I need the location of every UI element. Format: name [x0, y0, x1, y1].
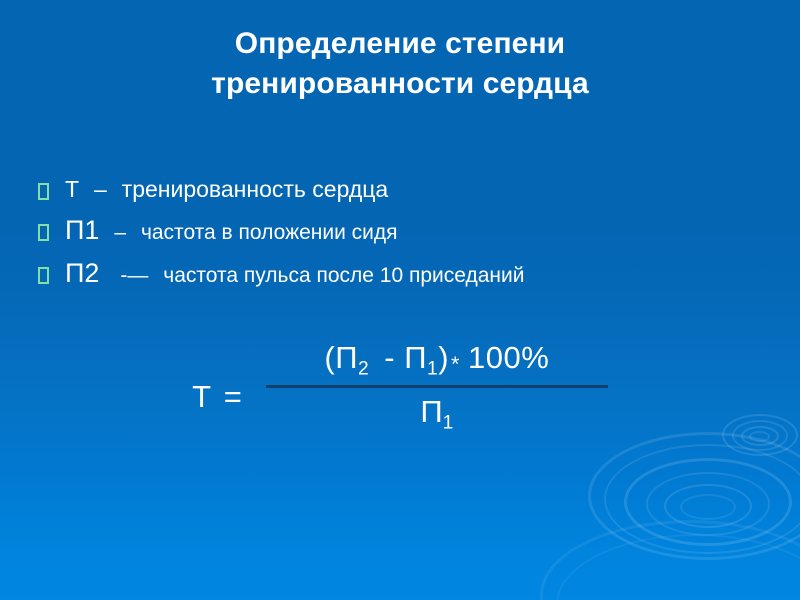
square-bullet-icon: [38, 267, 49, 284]
denominator-subscript: 1: [443, 412, 454, 433]
slide-title: Определение степени тренированности серд…: [70, 24, 730, 104]
list-item-text: Т – тренированность сердца: [65, 176, 388, 203]
numerator-subscript-1: 2: [358, 359, 369, 380]
numerator-percent-value: 100%: [468, 340, 549, 375]
list-item-description: частота пульса после 10 приседаний: [163, 264, 524, 287]
numerator-subscript-2: 1: [427, 359, 438, 380]
wave-arc-icon: [540, 520, 800, 600]
ripple-ring-icon: [604, 444, 800, 554]
denominator-base: П: [420, 394, 442, 429]
wave-arc-icon: [556, 534, 800, 600]
numerator-multiply-operator: *: [449, 351, 462, 376]
list-item-description: частота в положении сидя: [141, 221, 398, 244]
list-item-text: П2 -— частота пульса после 10 приседаний: [65, 258, 525, 289]
numerator-second-term: П: [404, 340, 427, 375]
ripple-ring-icon: [624, 458, 792, 546]
square-bullet-icon: [38, 224, 49, 241]
list-item: П1 – частота в положении сидя: [38, 215, 778, 246]
slide-title-line-1: Определение степени: [70, 24, 730, 64]
ripple-ring-icon: [664, 484, 752, 528]
list-item-symbol: Т: [65, 176, 79, 202]
formula-numerator: (П2 - П1)*100%: [318, 340, 555, 385]
ripple-ring-icon: [646, 472, 770, 536]
list-item: П2 -— частота пульса после 10 приседаний: [38, 258, 778, 289]
slide-canvas: Определение степени тренированности серд…: [0, 0, 800, 600]
list-item-description: тренированность сердца: [122, 176, 389, 202]
list-item: Т – тренированность сердца: [38, 176, 778, 203]
formula-block: Т = (П2 - П1)*100% П1: [0, 340, 800, 434]
definition-list: Т – тренированность сердца П1 – частота …: [38, 176, 778, 301]
list-item-symbol: П2: [65, 258, 99, 288]
ripple-ring-icon: [680, 494, 736, 520]
numerator-minus-operator: -: [375, 340, 404, 375]
ripple-ring-icon: [588, 432, 800, 560]
list-item-dash: –: [114, 221, 126, 244]
list-item-symbol: П1: [65, 215, 99, 245]
formula-denominator: П1: [420, 388, 453, 435]
list-item-text: П1 – частота в положении сидя: [65, 215, 398, 246]
square-bullet-icon: [38, 183, 49, 200]
numerator-close-paren: ): [438, 340, 449, 375]
list-item-dash: -—: [120, 264, 148, 287]
formula-left-hand-side: Т =: [192, 379, 244, 415]
numerator-open-paren: (П: [324, 340, 358, 375]
slide-title-line-2: тренированности сердца: [70, 64, 730, 104]
formula-fraction: (П2 - П1)*100% П1: [266, 340, 608, 434]
list-item-dash: –: [94, 176, 107, 202]
